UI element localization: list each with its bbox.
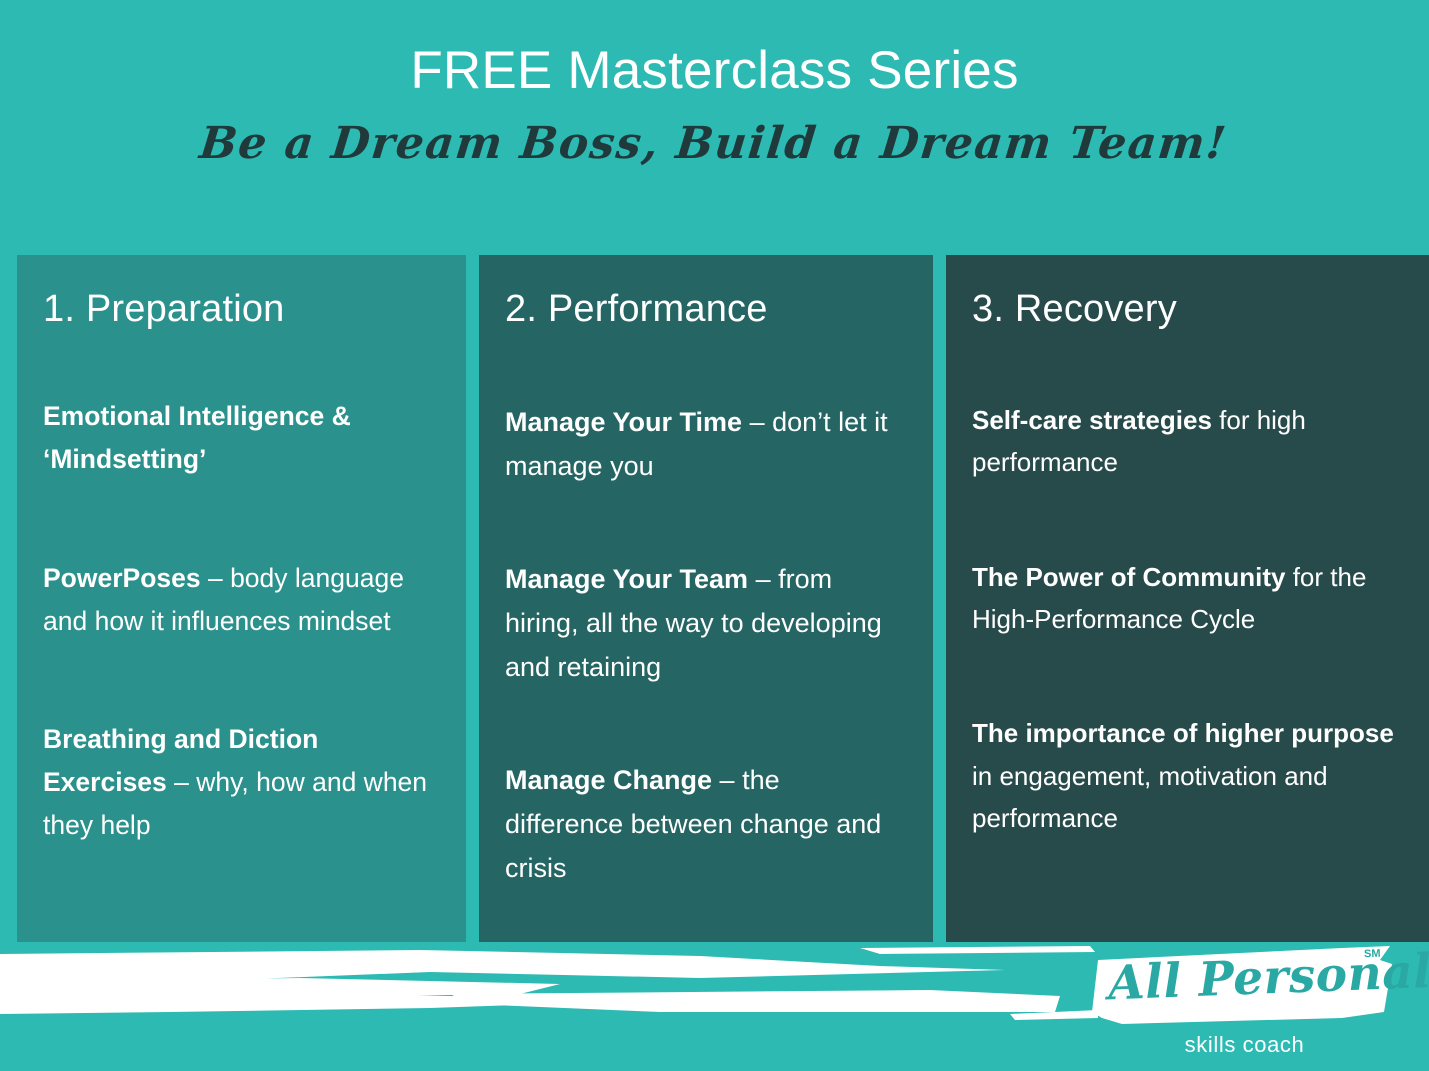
list-item: Manage Your Team – from hiring, all the … (505, 558, 903, 689)
column-items-recovery: Self-care strategies for high performanc… (972, 399, 1399, 840)
list-item: The Power of Community for the High-Perf… (972, 556, 1399, 641)
column-items-performance: Manage Your Time – don’t let it manage y… (505, 401, 903, 891)
masterclass-poster: FREE Masterclass Series Be a Dream Boss,… (0, 0, 1429, 1071)
list-item: Manage Your Time – don’t let it manage y… (505, 401, 903, 488)
list-item: The importance of higher purpose in enga… (972, 712, 1399, 839)
poster-subtitle: Be a Dream Boss, Build a Dream Team! (0, 99, 1429, 167)
logo-wordmark: All Personal (1107, 946, 1387, 1012)
item-lead: Emotional Intelligence & ‘Mindsetting’ (43, 401, 351, 474)
brand-logo[interactable]: All Personal SM skills coach (1092, 946, 1397, 1064)
item-lead: PowerPoses (43, 563, 201, 593)
item-lead: Manage Your Team (505, 564, 748, 594)
column-preparation: 1. Preparation Emotional Intelligence & … (17, 255, 466, 942)
poster-title: FREE Masterclass Series (0, 0, 1429, 99)
item-lead: Manage Your Time (505, 407, 742, 437)
column-performance: 2. Performance Manage Your Time – don’t … (479, 255, 933, 942)
list-item: Emotional Intelligence & ‘Mindsetting’ (43, 395, 436, 481)
item-lead: Manage Change (505, 765, 712, 795)
item-lead: Self-care strategies (972, 405, 1212, 435)
logo-tagline: skills coach (1092, 1032, 1397, 1058)
service-mark-icon: SM (1364, 948, 1381, 961)
list-item: Self-care strategies for high performanc… (972, 399, 1399, 484)
column-items-preparation: Emotional Intelligence & ‘Mindsetting’ P… (43, 395, 436, 847)
item-lead: The importance of higher purpose (972, 718, 1394, 748)
column-heading-preparation: 1. Preparation (43, 289, 436, 331)
item-rest: in engagement, motivation and performanc… (972, 761, 1328, 833)
column-heading-performance: 2. Performance (505, 289, 903, 331)
item-lead: The Power of Community (972, 562, 1285, 592)
list-item: Breathing and Diction Exercises – why, h… (43, 718, 436, 847)
columns-container: 1. Preparation Emotional Intelligence & … (17, 255, 1429, 942)
list-item: Manage Change – the difference between c… (505, 759, 903, 890)
column-heading-recovery: 3. Recovery (972, 289, 1399, 331)
poster-header: FREE Masterclass Series Be a Dream Boss,… (0, 0, 1429, 252)
list-item: PowerPoses – body language and how it in… (43, 557, 436, 643)
brush-stroke-graphic (0, 942, 1100, 1032)
column-recovery: 3. Recovery Self-care strategies for hig… (946, 255, 1429, 942)
